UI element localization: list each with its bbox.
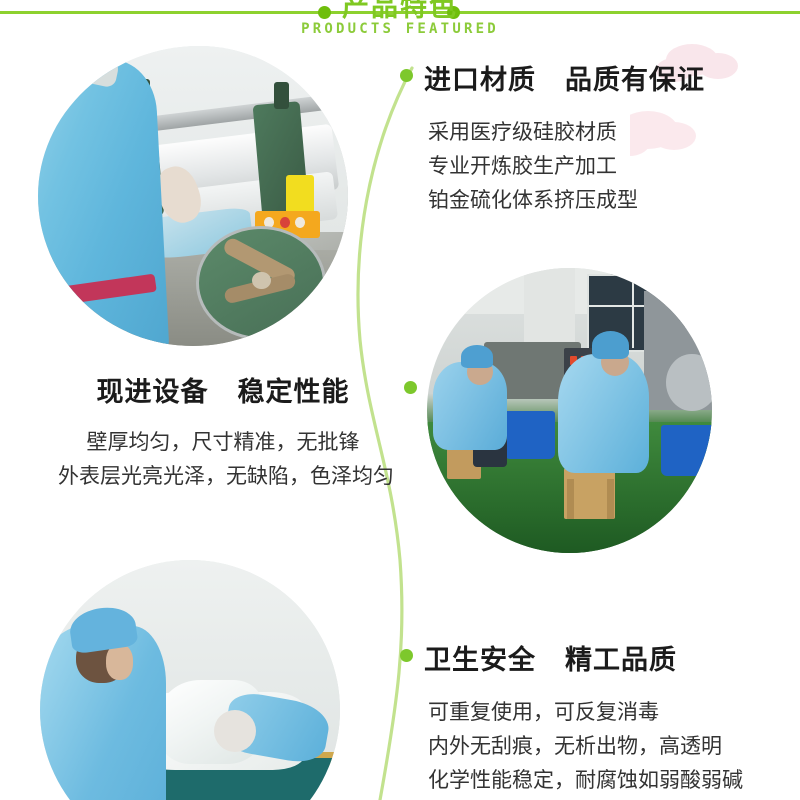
heading-part-right: 精工品质 (565, 645, 677, 675)
feature-heading-material: 进口材质 品质有保证 (424, 58, 705, 97)
feature-block-material: 进口材质 品质有保证 采用医疗级硅胶材质 专业开炼胶生产加工 铂金硫化体系挤压成… (424, 58, 705, 217)
heading-part-left: 卫生安全 (424, 645, 536, 675)
product-features-banner: 产品特色 PRODUCTS FEATURED (0, 0, 800, 800)
page-title: 产品特色 (0, 0, 800, 21)
feature-line: 壁厚均匀，尺寸精准，无批锋 (58, 425, 388, 459)
photo-cleanroom-workers (427, 268, 712, 553)
feature-line: 采用医疗级硅胶材质 (428, 115, 705, 149)
bullet-dot-icon (404, 381, 417, 394)
feature-line: 内外无刮痕，无析出物，高透明 (428, 729, 743, 763)
feature-line: 可重复使用，可反复消毒 (428, 695, 743, 729)
page-subtitle: PRODUCTS FEATURED (0, 21, 800, 37)
photo-rubber-mixing-mill (38, 46, 348, 346)
feature-lines-hygiene: 可重复使用，可反复消毒 内外无刮痕，无析出物，高透明 化学性能稳定，耐腐蚀如弱酸… (428, 695, 743, 797)
feature-line: 化学性能稳定，耐腐蚀如弱酸弱碱 (428, 763, 743, 797)
feature-line: 专业开炼胶生产加工 (428, 149, 705, 183)
heading-part-right: 稳定性能 (238, 377, 350, 407)
feature-block-hygiene: 卫生安全 精工品质 可重复使用，可反复消毒 内外无刮痕，无析出物，高透明 化学性… (424, 638, 743, 797)
feature-heading-equipment: 现进设备 稳定性能 (58, 370, 388, 409)
photo-packing-worker (40, 560, 340, 800)
heading-part-left: 现进设备 (96, 377, 208, 407)
heading-part-left: 进口材质 (424, 65, 536, 95)
bullet-dot-icon (400, 649, 413, 662)
bullet-dot-icon (400, 69, 413, 82)
feature-block-equipment: 现进设备 稳定性能 壁厚均匀，尺寸精准，无批锋 外表层光亮光泽，无缺陷，色泽均匀 (58, 370, 388, 493)
feature-line: 铂金硫化体系挤压成型 (428, 183, 705, 217)
feature-heading-hygiene: 卫生安全 精工品质 (424, 638, 743, 677)
heading-part-right: 品质有保证 (565, 65, 705, 95)
feature-lines-equipment: 壁厚均匀，尺寸精准，无批锋 外表层光亮光泽，无缺陷，色泽均匀 (58, 425, 388, 493)
feature-line: 外表层光亮光泽，无缺陷，色泽均匀 (58, 459, 388, 493)
feature-lines-material: 采用医疗级硅胶材质 专业开炼胶生产加工 铂金硫化体系挤压成型 (428, 115, 705, 217)
